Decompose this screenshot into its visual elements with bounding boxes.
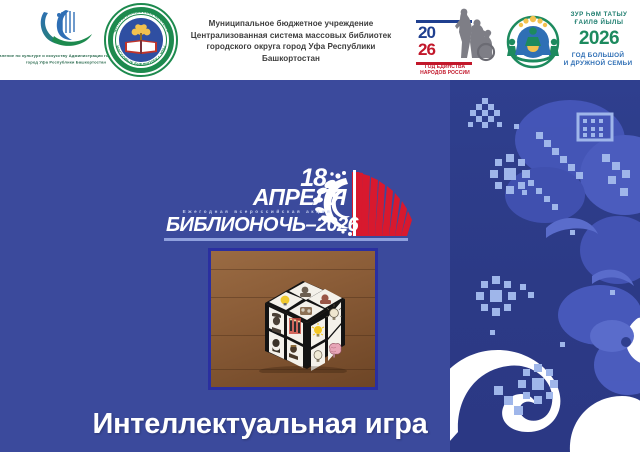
photo-inner <box>211 251 375 387</box>
poster-body: 18 АПРЕЛЯ Ежегодная всероссийская акция … <box>0 80 640 452</box>
institution-name: Муниципальное бюджетное учреждение Центр… <box>180 18 402 64</box>
banner-month: АПРЕЛЯ <box>253 186 346 209</box>
ornament-svg <box>450 80 640 452</box>
year-of-family-2026-logo: ЗУР ҺӘМ ТАТЫУ ҒАИЛӘ ЙЫЛЫ 2026 ГОД БОЛЬШО… <box>500 4 634 76</box>
svg-text:МАССОВЫХ БИБЛИОТЕК г. УФЫ: МАССОВЫХ БИБЛИОТЕК г. УФЫ <box>115 45 168 67</box>
year-of-unity-2026-logo: 20 26 ГОД ЕДИНСТВА НАР <box>410 6 496 75</box>
header-band: Управление по культуре и искусству Админ… <box>0 0 640 80</box>
banner-rule <box>164 238 408 241</box>
banner-title: БИБЛИОНОЧЬ–2026 <box>166 215 358 236</box>
culture-department-logo: Управление по культуре и искусству Админ… <box>14 4 118 76</box>
family-caption-line-2: И ДРУЖНОЙ СЕМЬИ <box>560 60 636 68</box>
family-year: 2026 <box>564 28 634 49</box>
page-title: Интеллектуальная игра "ПроТрадиции" <box>0 404 520 452</box>
unity-year-top: 20 <box>418 24 435 41</box>
svg-text:ЦЕНТРАЛИЗОВАННАЯ СИСТЕМА: ЦЕНТРАЛИЗОВАННАЯ СИСТЕМА <box>111 9 171 33</box>
institution-line-1: Муниципальное бюджетное учреждение <box>180 18 402 30</box>
institution-line-2: Централизованная система массовых библио… <box>180 30 402 42</box>
lyre-swan-icon <box>36 6 98 52</box>
unity-caption-line-2: НАРОДОВ РОССИИ <box>414 70 476 76</box>
folk-floral-ornament <box>450 80 640 452</box>
family-bashkir-text: ЗУР ҺӘМ ТАТЫУ ҒАИЛӘ ЙЫЛЫ <box>564 11 634 27</box>
family-bashkir-line-1: ЗУР ҺӘМ ТАТЫУ <box>564 11 634 19</box>
monument-figures-icon <box>452 8 496 62</box>
family-bashkir-line-2: ҒАИЛӘ ЙЫЛЫ <box>564 19 634 27</box>
biblionight-banner: 18 АПРЕЛЯ Ежегодная всероссийская акция … <box>160 168 412 240</box>
institution-line-3: городского округа город Уфа Республики Б… <box>180 41 402 64</box>
cube-illustration <box>245 273 349 373</box>
seal-circular-text: ЦЕНТРАЛИЗОВАННАЯ СИСТЕМА МАССОВЫХ БИБЛИО… <box>104 3 178 77</box>
title-line-2: "ПроТрадиции" <box>0 445 520 452</box>
puzzle-cube-photo <box>208 248 378 390</box>
title-line-1: Интеллектуальная игра <box>93 408 428 440</box>
family-caption: ГОД БОЛЬШОЙ И ДРУЖНОЙ СЕМЬИ <box>560 52 636 69</box>
family-circle-icon <box>502 12 564 70</box>
unity-year-bottom: 26 <box>418 41 435 58</box>
poster-canvas: Управление по культуре и искусству Админ… <box>0 0 640 452</box>
unity-caption: ГОД ЕДИНСТВА НАРОДОВ РОССИИ <box>414 64 476 76</box>
library-system-seal: ЦЕНТРАЛИЗОВАННАЯ СИСТЕМА МАССОВЫХ БИБЛИО… <box>104 3 178 77</box>
